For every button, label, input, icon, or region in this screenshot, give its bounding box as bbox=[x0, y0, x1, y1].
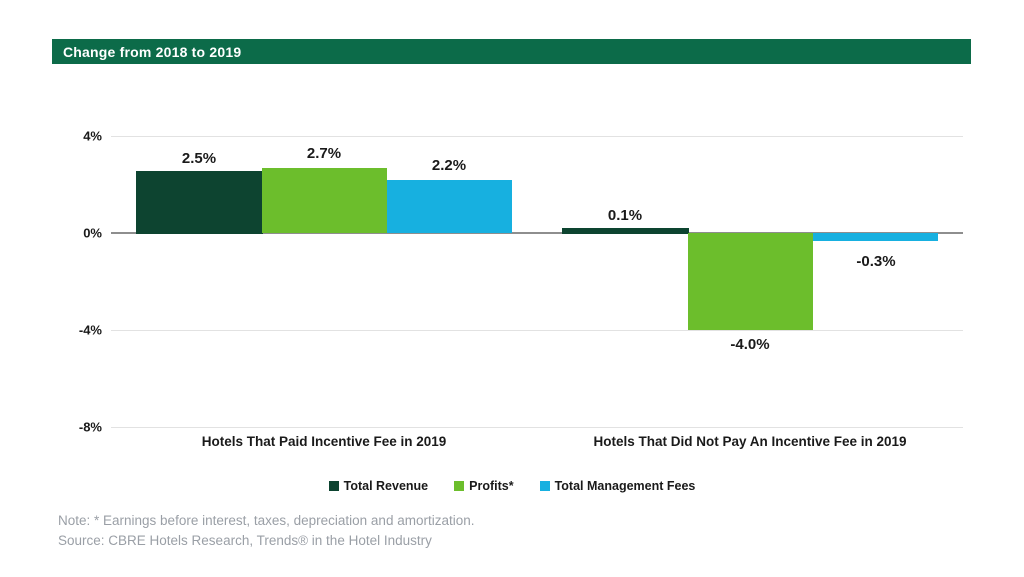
y-tick-label-4: 4% bbox=[83, 129, 102, 144]
data-label-unpaid-total-revenue: 0.1% bbox=[608, 207, 642, 224]
bar-chart: 4% 0% -4% -8% 2.5% 2.7% 2.2% 0.1% -4.0% bbox=[0, 0, 1024, 577]
legend-item-total-revenue[interactable]: Total Revenue bbox=[329, 479, 429, 493]
category-label-paid: Hotels That Paid Incentive Fee in 2019 bbox=[202, 434, 447, 449]
footnotes: Note: * Earnings before interest, taxes,… bbox=[58, 511, 474, 551]
legend-item-profits[interactable]: Profits* bbox=[454, 479, 513, 493]
bar-paid-total-management-fees[interactable] bbox=[387, 180, 512, 233]
legend-label-total-management-fees: Total Management Fees bbox=[555, 479, 696, 493]
y-tick-label-neg8: -8% bbox=[79, 420, 102, 435]
data-label-paid-total-management-fees: 2.2% bbox=[432, 157, 466, 174]
bar-unpaid-total-revenue[interactable] bbox=[563, 229, 688, 233]
bar-paid-profits[interactable] bbox=[262, 168, 387, 233]
bar-unpaid-profits[interactable] bbox=[688, 233, 813, 330]
gridline-neg8 bbox=[111, 427, 963, 428]
y-tick-label-neg4: -4% bbox=[79, 323, 102, 338]
bar-unpaid-total-management-fees[interactable] bbox=[813, 233, 938, 241]
bar-paid-total-revenue[interactable] bbox=[137, 172, 262, 233]
plot-area: 2.5% 2.7% 2.2% 0.1% -4.0% -0.3% bbox=[111, 136, 963, 427]
legend-label-total-revenue: Total Revenue bbox=[344, 479, 429, 493]
data-label-paid-total-revenue: 2.5% bbox=[182, 150, 216, 167]
legend-label-profits: Profits* bbox=[469, 479, 513, 493]
y-axis: 4% 0% -4% -8% bbox=[55, 136, 102, 427]
data-label-unpaid-total-management-fees: -0.3% bbox=[856, 253, 895, 270]
data-label-unpaid-profits: -4.0% bbox=[730, 336, 769, 353]
legend-swatch-icon-profits bbox=[454, 481, 464, 491]
category-label-unpaid: Hotels That Did Not Pay An Incentive Fee… bbox=[593, 434, 906, 449]
data-label-paid-profits: 2.7% bbox=[307, 145, 341, 162]
gridline-neg4 bbox=[111, 330, 963, 331]
y-tick-label-0: 0% bbox=[83, 226, 102, 241]
legend-swatch-icon-total-management-fees bbox=[540, 481, 550, 491]
gridline-4 bbox=[111, 136, 963, 137]
chart-legend: Total Revenue Profits* Total Management … bbox=[0, 479, 1024, 493]
footnote-source: Source: CBRE Hotels Research, Trends® in… bbox=[58, 531, 474, 551]
legend-swatch-icon-total-revenue bbox=[329, 481, 339, 491]
legend-item-total-management-fees[interactable]: Total Management Fees bbox=[540, 479, 696, 493]
footnote-note: Note: * Earnings before interest, taxes,… bbox=[58, 511, 474, 531]
